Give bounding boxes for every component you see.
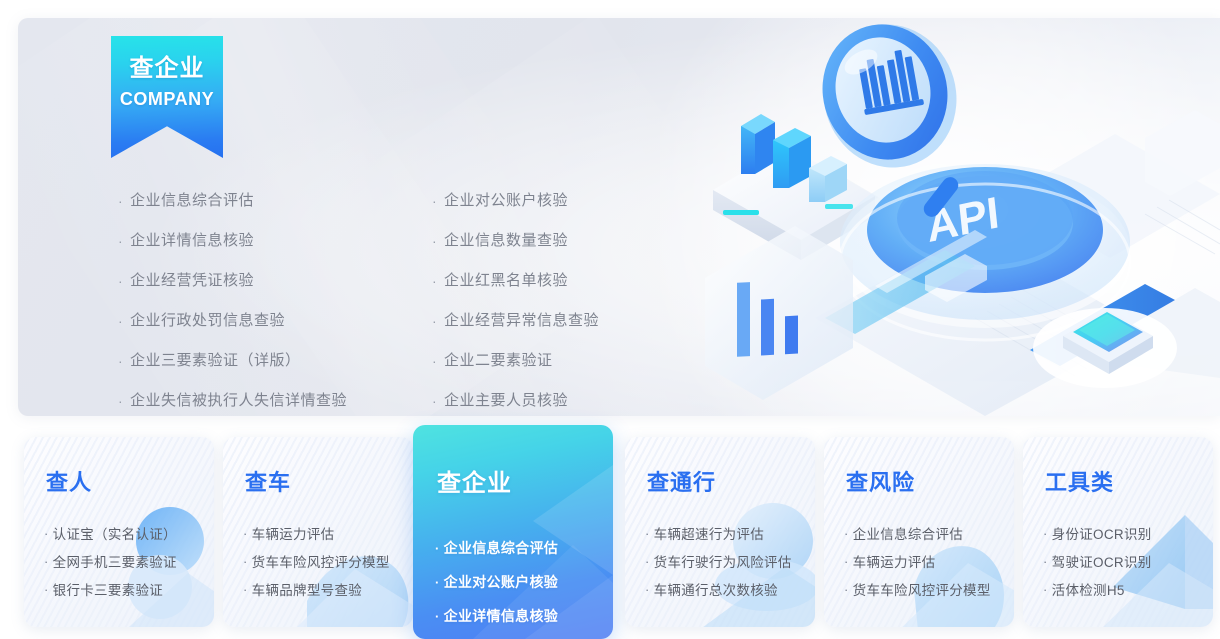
hero-feature-column-left: · 企业信息综合评估 · 企业详情信息核验 · 企业经营凭证核验 · 企业行政处… — [118, 190, 438, 416]
card-list-item[interactable]: · 车辆运力评估 — [844, 547, 1006, 575]
bullet-icon: · — [432, 350, 444, 372]
bullet-icon: · — [118, 310, 130, 332]
hero-ribbon-badge: 查企业 COMPANY — [111, 36, 223, 158]
card-item-list: · 企业信息综合评估 · 企业对公账户核验 · 企业详情信息核验 — [435, 531, 605, 633]
bullet-icon: · — [645, 526, 650, 541]
card-item-label: 车辆品牌型号查验 — [252, 579, 362, 599]
card-list-item[interactable]: · 银行卡三要素验证 — [44, 575, 206, 603]
hero-panel: API — [18, 18, 1220, 416]
card-item-label: 认证宝（实名认证） — [53, 523, 177, 543]
hero-feature-label: 企业信息数量查验 — [444, 230, 568, 252]
hero-feature-item[interactable]: · 企业详情信息核验 — [118, 230, 438, 270]
hero-feature-label: 企业三要素验证（详版） — [130, 350, 301, 372]
card-title: 查企业 — [437, 463, 512, 498]
card-item-label: 企业对公账户核验 — [444, 572, 558, 592]
hero-feature-label: 企业失信被执行人失信详情查验 — [130, 390, 347, 412]
bullet-icon: · — [645, 582, 650, 597]
bullet-icon: · — [243, 554, 248, 569]
card-item-label: 身份证OCR识别 — [1052, 523, 1152, 543]
hero-feature-label: 企业对公账户核验 — [444, 190, 568, 212]
hero-feature-label: 企业信息综合评估 — [130, 190, 254, 212]
floor-slabs — [735, 134, 1220, 416]
card-item-label: 车辆通行总次数核验 — [654, 579, 778, 599]
hero-feature-item[interactable]: · 企业经营异常信息查验 — [432, 310, 752, 350]
card-list-item[interactable]: · 货车车险风控评分模型 — [844, 575, 1006, 603]
category-card-tools[interactable]: 工具类 · 身份证OCR识别 · 驾驶证OCR识别 · 活体检测H5 — [1023, 437, 1213, 627]
bullet-icon: · — [435, 541, 440, 556]
chip-platform — [1033, 308, 1177, 388]
card-item-label: 企业详情信息核验 — [444, 606, 558, 626]
card-item-list: · 身份证OCR识别 · 驾驶证OCR识别 · 活体检测H5 — [1043, 519, 1205, 603]
category-card-transit[interactable]: 查通行 · 车辆超速行为评估 · 货车行驶行为风险评估 · 车辆通行总次数核验 — [625, 437, 815, 627]
card-list-item[interactable]: · 企业对公账户核验 — [435, 565, 605, 599]
magnifier-building-icon — [807, 18, 974, 220]
card-item-list: · 车辆超速行为评估 · 货车行驶行为风险评估 · 车辆通行总次数核验 — [645, 519, 807, 603]
card-item-label: 车辆运力评估 — [252, 523, 335, 543]
hero-feature-label: 企业主要人员核验 — [444, 390, 568, 412]
card-item-label: 货车车险风控评分模型 — [252, 551, 390, 571]
card-list-item[interactable]: · 货车行驶行为风险评估 — [645, 547, 807, 575]
card-title: 工具类 — [1045, 465, 1114, 497]
category-card-people[interactable]: 查人 · 认证宝（实名认证） · 全网手机三要素验证 · 银行卡三要素验证 — [24, 437, 214, 627]
bullet-icon: · — [1043, 554, 1048, 569]
bullet-icon: · — [432, 190, 444, 212]
card-list-item[interactable]: · 车辆品牌型号查验 — [243, 575, 405, 603]
card-item-label: 车辆超速行为评估 — [654, 523, 764, 543]
bullet-icon: · — [432, 230, 444, 252]
bullet-icon: · — [844, 526, 849, 541]
category-card-risk[interactable]: 查风险 · 企业信息综合评估 · 车辆运力评估 · 货车车险风控评分模型 — [824, 437, 1014, 627]
bullet-icon: · — [432, 310, 444, 332]
hero-feature-item[interactable]: · 企业信息综合评估 — [118, 190, 438, 230]
card-item-label: 货车车险风控评分模型 — [853, 579, 991, 599]
bullet-icon: · — [1043, 526, 1048, 541]
bullet-icon: · — [243, 582, 248, 597]
card-item-label: 驾驶证OCR识别 — [1052, 551, 1152, 571]
card-item-list: · 车辆运力评估 · 货车车险风控评分模型 · 车辆品牌型号查验 — [243, 519, 405, 603]
hero-feature-item[interactable]: · 企业失信被执行人失信详情查验 — [118, 390, 438, 416]
card-list-item[interactable]: · 身份证OCR识别 — [1043, 519, 1205, 547]
ribbon-title-en: COMPANY — [120, 86, 214, 112]
bullet-icon: · — [118, 230, 130, 252]
card-list-item[interactable]: · 企业详情信息核验 — [435, 599, 605, 633]
hero-feature-item[interactable]: · 企业对公账户核验 — [432, 190, 752, 230]
card-item-label: 车辆运力评估 — [853, 551, 936, 571]
bullet-icon: · — [118, 390, 130, 412]
bullet-icon: · — [435, 575, 440, 590]
bullet-icon: · — [1043, 582, 1048, 597]
card-item-list: · 认证宝（实名认证） · 全网手机三要素验证 · 银行卡三要素验证 — [44, 519, 206, 603]
hero-feature-lists: · 企业信息综合评估 · 企业详情信息核验 · 企业经营凭证核验 · 企业行政处… — [118, 190, 438, 416]
ribbon-bands — [825, 230, 1175, 366]
category-card-vehicle[interactable]: 查车 · 车辆运力评估 · 货车车险风控评分模型 · 车辆品牌型号查验 — [223, 437, 413, 627]
hero-feature-item[interactable]: · 企业经营凭证核验 — [118, 270, 438, 310]
bullet-icon: · — [432, 270, 444, 292]
card-title: 查车 — [245, 465, 291, 497]
bullet-icon: · — [645, 554, 650, 569]
card-title: 查人 — [46, 465, 92, 497]
bullet-icon: · — [44, 554, 49, 569]
hero-feature-item[interactable]: · 企业信息数量查验 — [432, 230, 752, 270]
hero-feature-label: 企业二要素验证 — [444, 350, 553, 372]
hero-feature-item[interactable]: · 企业主要人员核验 — [432, 390, 752, 416]
card-item-list: · 企业信息综合评估 · 车辆运力评估 · 货车车险风控评分模型 — [844, 519, 1006, 603]
card-list-item[interactable]: · 全网手机三要素验证 — [44, 547, 206, 575]
bullet-icon: · — [432, 390, 444, 412]
card-list-item[interactable]: · 企业信息综合评估 — [844, 519, 1006, 547]
hero-feature-label: 企业详情信息核验 — [130, 230, 254, 252]
card-list-item[interactable]: · 驾驶证OCR识别 — [1043, 547, 1205, 575]
hero-feature-item[interactable]: · 企业三要素验证（详版） — [118, 350, 438, 390]
bullet-icon: · — [844, 582, 849, 597]
card-list-item[interactable]: · 认证宝（实名认证） — [44, 519, 206, 547]
bullet-icon: · — [243, 526, 248, 541]
bullet-icon: · — [435, 609, 440, 624]
bullet-icon: · — [844, 554, 849, 569]
category-card-company-active[interactable]: 查企业 · 企业信息综合评估 · 企业对公账户核验 · 企业详情信息核验 — [413, 425, 613, 639]
ribbon-title-cn: 查企业 — [130, 54, 205, 84]
card-title: 查风险 — [846, 465, 915, 497]
hero-feature-column-right: · 企业对公账户核验 · 企业信息数量查验 · 企业红黑名单核验 · 企业经营异… — [432, 190, 752, 416]
card-item-label: 银行卡三要素验证 — [53, 579, 163, 599]
white-pillars — [925, 110, 1220, 302]
hero-feature-item[interactable]: · 企业二要素验证 — [432, 350, 752, 390]
bullet-icon: · — [44, 582, 49, 597]
hero-feature-label: 企业红黑名单核验 — [444, 270, 568, 292]
card-item-label: 货车行驶行为风险评估 — [654, 551, 792, 571]
hero-feature-label: 企业行政处罚信息查验 — [130, 310, 285, 332]
hero-illustration: API — [675, 18, 1220, 416]
card-list-item[interactable]: · 车辆运力评估 — [243, 519, 405, 547]
bullet-icon: · — [118, 350, 130, 372]
card-list-item[interactable]: · 企业信息综合评估 — [435, 531, 605, 565]
card-item-label: 企业信息综合评估 — [853, 523, 963, 543]
page-root: API — [0, 0, 1220, 639]
card-item-label: 活体检测H5 — [1052, 579, 1125, 599]
api-disc: API — [840, 164, 1130, 340]
category-card-row: 查人 · 认证宝（实名认证） · 全网手机三要素验证 · 银行卡三要素验证 — [0, 425, 1220, 639]
bullet-icon: · — [118, 270, 130, 292]
card-list-item[interactable]: · 活体检测H5 — [1043, 575, 1205, 603]
card-item-label: 企业信息综合评估 — [444, 538, 558, 558]
card-list-item[interactable]: · 车辆超速行为评估 — [645, 519, 807, 547]
card-list-item[interactable]: · 车辆通行总次数核验 — [645, 575, 807, 603]
api-disc-label: API — [925, 188, 1002, 252]
floor-hatch — [975, 200, 1220, 376]
hero-feature-item[interactable]: · 企业红黑名单核验 — [432, 270, 752, 310]
bullet-icon: · — [44, 526, 49, 541]
card-title: 查通行 — [647, 465, 716, 497]
hero-feature-label: 企业经营凭证核验 — [130, 270, 254, 292]
bullet-icon: · — [118, 190, 130, 212]
card-list-item[interactable]: · 货车车险风控评分模型 — [243, 547, 405, 575]
hero-feature-label: 企业经营异常信息查验 — [444, 310, 599, 332]
card-item-label: 全网手机三要素验证 — [53, 551, 177, 571]
hero-feature-item[interactable]: · 企业行政处罚信息查验 — [118, 310, 438, 350]
